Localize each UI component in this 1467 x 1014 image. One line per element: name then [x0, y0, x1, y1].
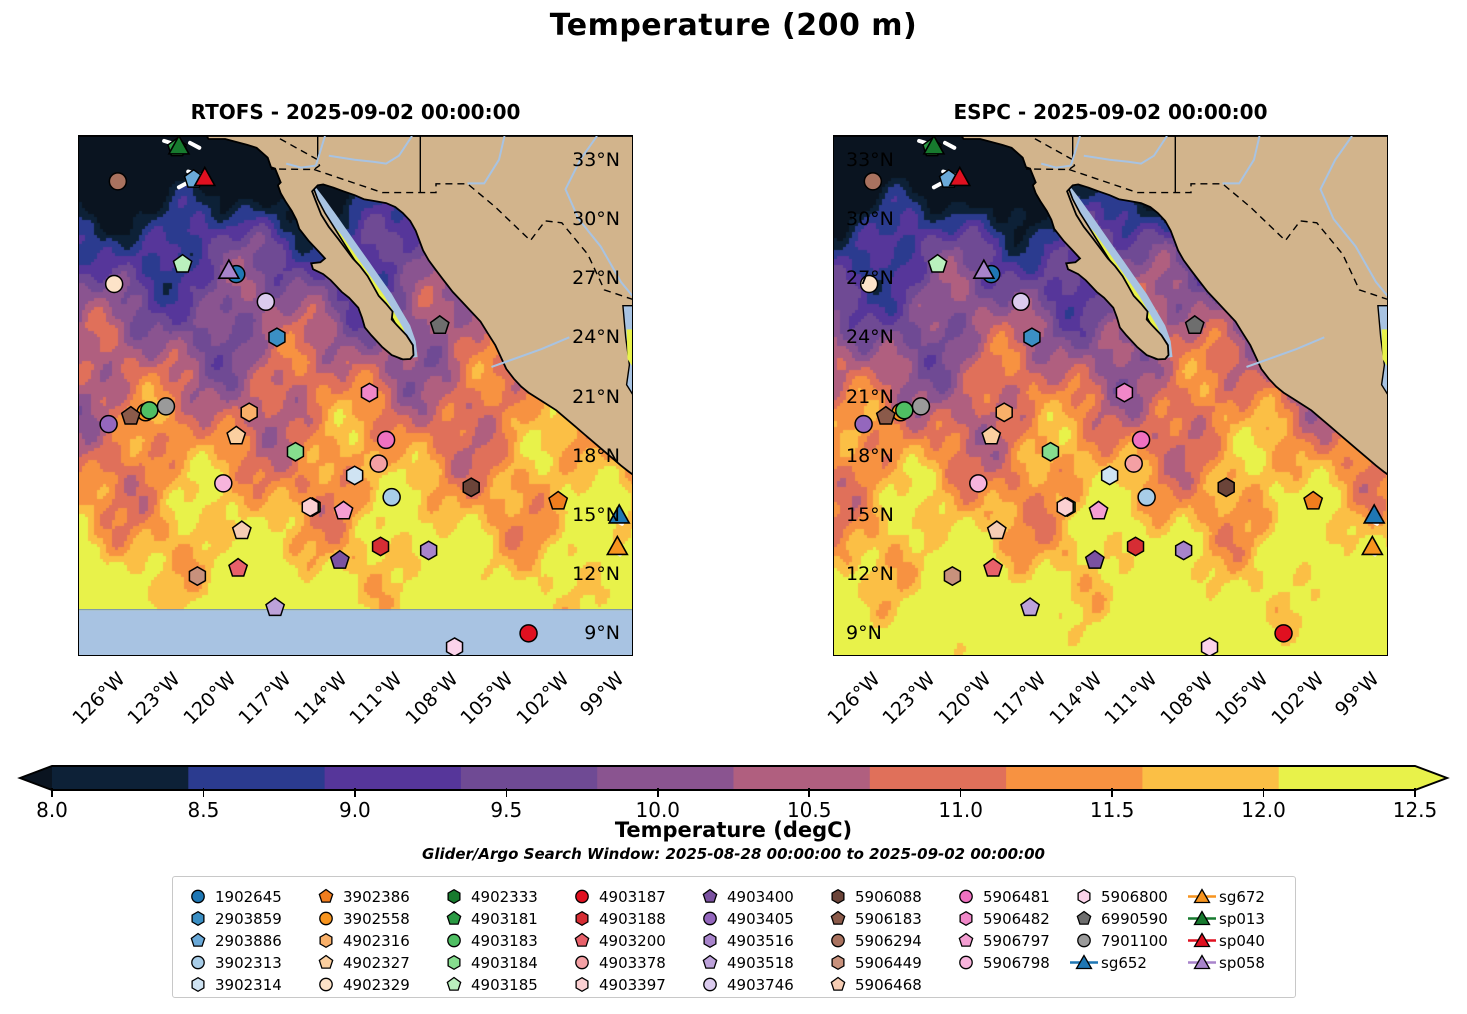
legend-item[interactable]: sg652 — [1069, 952, 1187, 973]
argo-float-marker[interactable]: 4902316 — [996, 403, 1012, 421]
search-window-note: Glider/Argo Search Window: 2025-08-28 00… — [0, 845, 1467, 863]
x-minor-tick — [624, 655, 625, 656]
argo-float-marker-icon — [183, 930, 213, 951]
glider-marker-icon — [1187, 952, 1217, 973]
legend-label: 5906481 — [981, 888, 1050, 906]
argo-float-marker[interactable]: 4903200 — [984, 559, 1002, 576]
argo-float-marker[interactable]: 2903859 — [269, 328, 285, 346]
x-minor-tick — [991, 655, 992, 656]
legend-item[interactable]: 5906482 — [951, 908, 1069, 929]
legend-label: 7901100 — [1099, 932, 1168, 950]
legend-item[interactable]: 5906294 — [823, 930, 951, 951]
y-tick — [833, 455, 834, 457]
y-tick — [833, 514, 834, 516]
argo-float-marker[interactable]: 4903185 — [173, 255, 191, 272]
legend-label: 3902314 — [213, 976, 282, 994]
y-minor-tick — [632, 554, 633, 555]
argo-float-marker[interactable]: 5906482 — [361, 383, 377, 401]
legend-item[interactable]: 4903200 — [567, 930, 695, 951]
legend-item[interactable]: sp013 — [1187, 908, 1287, 929]
x-minor-tick — [843, 655, 844, 656]
legend-item[interactable]: 5906798 — [951, 952, 1069, 973]
x-minor-tick — [898, 655, 899, 656]
y-minor-tick — [632, 139, 633, 140]
argo-float-marker-icon — [823, 930, 853, 951]
y-tick — [632, 396, 633, 398]
y-minor-tick — [833, 356, 834, 357]
x-tick-top — [1138, 135, 1140, 136]
y-minor-tick — [78, 317, 79, 318]
legend-item[interactable]: 5906797 — [951, 930, 1069, 951]
colorbar-tick — [657, 788, 659, 797]
argo-float-marker[interactable]: 5906294 — [864, 173, 881, 190]
argo-float-marker[interactable]: 4903187 — [1275, 625, 1292, 642]
argo-float-marker[interactable]: 4903397 — [1057, 498, 1073, 516]
x-minor-tick — [458, 655, 459, 656]
legend-item[interactable]: 3902314 — [183, 974, 311, 995]
y-tick — [1387, 514, 1388, 516]
argo-float-marker[interactable]: 4903200 — [229, 559, 247, 576]
argo-float-marker-icon — [183, 952, 213, 973]
argo-float-marker[interactable]: 6990590 — [431, 316, 449, 333]
legend-item[interactable]: 2903859 — [183, 908, 311, 929]
argo-float-marker[interactable]: 2903859 — [1024, 328, 1040, 346]
map-canvas-espc[interactable]: 1902645290385929038863902313390231439023… — [833, 135, 1388, 656]
y-minor-tick — [78, 435, 79, 436]
y-minor-tick — [632, 652, 633, 653]
y-minor-tick — [632, 179, 633, 180]
map-canvas-rtofs[interactable]: 1902645290385929038863902313390231439023… — [78, 135, 633, 656]
x-minor-tick — [1213, 655, 1214, 656]
y-minor-tick — [78, 198, 79, 199]
y-minor-tick — [1387, 593, 1388, 594]
argo-float-marker[interactable]: 4903516 — [421, 541, 437, 559]
x-tick — [217, 655, 219, 656]
legend-item[interactable]: 4903405 — [695, 908, 823, 929]
argo-float-marker[interactable]: 5906088 — [463, 478, 479, 496]
y-tick — [1387, 159, 1388, 161]
y-minor-tick — [632, 593, 633, 594]
y-minor-tick — [1387, 317, 1388, 318]
x-tick-top — [217, 135, 219, 136]
legend-item[interactable]: 4903185 — [439, 974, 567, 995]
argo-float-marker[interactable]: 3902313 — [383, 489, 400, 506]
panel-title-rtofs: RTOFS - 2025-09-02 00:00:00 — [78, 100, 633, 124]
legend-label: 3902386 — [341, 888, 410, 906]
argo-float-marker[interactable]: 4903400 — [1086, 551, 1104, 568]
legend-label: 4903187 — [597, 888, 666, 906]
legend-item[interactable]: 5906183 — [823, 908, 951, 929]
colorbar-tick — [51, 788, 53, 797]
y-tick — [78, 455, 79, 457]
x-tick-top — [439, 135, 441, 136]
x-minor-tick — [1157, 655, 1158, 656]
argo-float-marker[interactable]: 5906798 — [970, 475, 987, 492]
y-minor-tick — [1387, 356, 1388, 357]
glider-marker[interactable]: sg652 — [1364, 505, 1384, 523]
y-minor-tick — [833, 435, 834, 436]
x-tick-top — [106, 135, 108, 136]
y-minor-tick — [833, 534, 834, 535]
y-tick — [632, 455, 633, 457]
legend-item[interactable]: 4903188 — [567, 908, 695, 929]
y-minor-tick — [78, 613, 79, 614]
y-minor-tick — [833, 613, 834, 614]
x-tick — [1194, 655, 1196, 656]
legend-column: 59060885906183590629459064495906468 — [823, 886, 951, 991]
argo-float-marker-icon — [951, 930, 981, 951]
argo-float-marker[interactable]: 4903187 — [520, 625, 537, 642]
legend-label: 6990590 — [1099, 910, 1168, 928]
x-minor-tick — [1324, 655, 1325, 656]
y-tick — [632, 573, 633, 575]
y-minor-tick — [833, 258, 834, 259]
y-minor-tick — [1387, 297, 1388, 298]
legend-item[interactable]: 4903397 — [567, 974, 695, 995]
y-tick-label: 15°N — [846, 504, 894, 526]
legend-item[interactable]: 4903183 — [439, 930, 567, 951]
y-minor-tick — [78, 238, 79, 239]
y-minor-tick — [1387, 435, 1388, 436]
marker-legend: 1902645290385929038863902313390231439023… — [172, 876, 1296, 998]
argo-float-marker[interactable]: 5906468 — [233, 521, 251, 538]
y-tick — [833, 573, 834, 575]
argo-float-marker-icon — [695, 952, 725, 973]
argo-float-marker[interactable]: 4902327 — [982, 426, 1000, 443]
legend-column: sg672sp013sp040sp058 — [1187, 886, 1287, 991]
argo-float-marker[interactable]: 5906088 — [1218, 478, 1234, 496]
y-tick — [1387, 455, 1388, 457]
y-minor-tick — [78, 554, 79, 555]
x-minor-tick — [1065, 655, 1066, 656]
argo-float-marker[interactable]: 4902329 — [106, 276, 123, 293]
glider-marker[interactable]: sg672 — [1362, 536, 1382, 554]
y-minor-tick — [78, 475, 79, 476]
legend-label: 5906800 — [1099, 888, 1168, 906]
y-minor-tick — [833, 139, 834, 140]
argo-float-marker[interactable]: 5906449 — [944, 567, 960, 585]
y-minor-tick — [833, 376, 834, 377]
y-tick-label: 15°N — [572, 504, 620, 526]
argo-float-marker[interactable]: 3902386 — [1304, 491, 1322, 508]
legend-item[interactable]: 4903181 — [439, 908, 567, 929]
y-tick — [1387, 573, 1388, 575]
legend-label: 4902316 — [341, 932, 410, 950]
argo-float-marker[interactable]: 4903518 — [266, 598, 284, 615]
x-tick-top — [1083, 135, 1085, 136]
legend-label: 1902645 — [213, 888, 282, 906]
y-minor-tick — [78, 258, 79, 259]
argo-float-marker[interactable]: 5906482 — [1116, 383, 1132, 401]
legend-item[interactable]: 7901100 — [1069, 930, 1187, 951]
y-minor-tick — [833, 593, 834, 594]
glider-marker-icon — [1187, 908, 1217, 929]
x-minor-tick — [88, 655, 89, 656]
y-minor-tick — [833, 198, 834, 199]
x-tick-top — [383, 135, 385, 136]
legend-label: 4903184 — [469, 954, 538, 972]
legend-label: 4903378 — [597, 954, 666, 972]
y-tick-label: 9°N — [846, 622, 882, 644]
x-tick-top — [861, 135, 863, 136]
x-tick-top — [1027, 135, 1029, 136]
argo-float-marker-icon — [183, 886, 213, 907]
x-minor-tick — [1046, 655, 1047, 656]
argo-float-marker-icon — [1069, 930, 1099, 951]
y-tick-label: 33°N — [846, 149, 894, 171]
argo-float-marker[interactable]: 4903397 — [302, 498, 318, 516]
legend-item[interactable]: 3902558 — [311, 908, 439, 929]
y-tick-label: 9°N — [584, 622, 620, 644]
legend-column: 39023863902558490231649023274902329 — [311, 886, 439, 991]
legend-item[interactable]: sp040 — [1187, 930, 1287, 951]
legend-item[interactable]: 4903378 — [567, 952, 695, 973]
y-tick — [78, 336, 79, 338]
argo-float-marker-icon — [439, 908, 469, 929]
y-minor-tick — [632, 317, 633, 318]
argo-float-marker[interactable]: 4903518 — [1021, 598, 1039, 615]
legend-label: 2903886 — [213, 932, 282, 950]
legend-label: 4903181 — [469, 910, 538, 928]
legend-item[interactable]: 4903184 — [439, 952, 567, 973]
colorbar-gradient — [0, 762, 1467, 798]
legend-item[interactable]: 6990590 — [1069, 908, 1187, 929]
argo-float-marker-icon — [823, 908, 853, 929]
argo-float-marker[interactable]: 5906797 — [1089, 501, 1107, 518]
y-tick — [78, 573, 79, 575]
argo-float-marker[interactable]: 4903378 — [370, 455, 387, 472]
argo-float-marker[interactable]: 5906798 — [215, 475, 232, 492]
x-tick-top — [328, 135, 330, 136]
argo-float-marker[interactable]: 4903400 — [331, 551, 349, 568]
argo-float-marker[interactable]: 4903188 — [1128, 537, 1144, 555]
legend-column: 49023334903181490318349031844903185 — [439, 886, 567, 991]
legend-item[interactable]: 4903746 — [695, 974, 823, 995]
argo-float-marker[interactable]: 3902314 — [1102, 466, 1118, 484]
argo-float-marker[interactable]: 4903405 — [100, 416, 117, 433]
y-tick — [78, 514, 79, 516]
colorbar-tick — [808, 788, 810, 797]
argo-float-marker-icon — [567, 908, 597, 929]
x-tick — [1027, 655, 1029, 656]
legend-item[interactable]: 4903400 — [695, 886, 823, 907]
x-minor-tick — [935, 655, 936, 656]
y-minor-tick — [78, 139, 79, 140]
y-minor-tick — [632, 198, 633, 199]
argo-float-marker-icon — [695, 974, 725, 995]
argo-float-marker[interactable]: 3902313 — [1138, 489, 1155, 506]
x-tick — [161, 655, 163, 656]
x-tick — [494, 655, 496, 656]
legend-item[interactable]: 5906468 — [823, 974, 951, 995]
y-tick — [632, 633, 633, 635]
argo-float-marker[interactable]: 4903184 — [1042, 443, 1058, 461]
x-tick — [439, 655, 441, 656]
argo-float-marker[interactable]: 5906481 — [378, 431, 395, 448]
y-minor-tick — [1387, 613, 1388, 614]
y-minor-tick — [78, 376, 79, 377]
colorbar-segment — [597, 766, 734, 790]
legend-column: 49031874903188490320049033784903397 — [567, 886, 695, 991]
legend-label: 4903405 — [725, 910, 794, 928]
argo-float-marker[interactable]: 4903185 — [928, 255, 946, 272]
argo-float-marker-icon — [1069, 886, 1099, 907]
y-minor-tick — [632, 238, 633, 239]
x-minor-tick — [1379, 655, 1380, 656]
argo-float-marker-icon — [951, 952, 981, 973]
colorbar-segment — [1279, 766, 1416, 790]
legend-item[interactable]: 5906088 — [823, 886, 951, 907]
legend-label: 3902558 — [341, 910, 410, 928]
y-minor-tick — [833, 494, 834, 495]
glider-marker-icon — [1187, 930, 1217, 951]
y-minor-tick — [833, 416, 834, 417]
legend-item[interactable]: 4902327 — [311, 952, 439, 973]
argo-float-marker[interactable]: 7901100 — [157, 398, 174, 415]
y-minor-tick — [632, 475, 633, 476]
x-minor-tick — [476, 655, 477, 656]
y-tick — [632, 218, 633, 220]
legend-item[interactable]: 3902386 — [311, 886, 439, 907]
legend-label: 4903397 — [597, 976, 666, 994]
argo-float-marker[interactable]: 4902327 — [227, 426, 245, 443]
legend-label: 4903746 — [725, 976, 794, 994]
map-overlay-rtofs: 1902645290385929038863902313390231439023… — [79, 136, 633, 656]
legend-item[interactable]: 2903886 — [183, 930, 311, 951]
legend-label: 5906468 — [853, 976, 922, 994]
x-tick — [328, 655, 330, 656]
argo-float-marker-icon — [311, 952, 341, 973]
argo-float-marker-icon — [183, 974, 213, 995]
legend-item[interactable]: 1902645 — [183, 886, 311, 907]
x-minor-tick — [513, 655, 514, 656]
argo-float-marker-icon — [439, 930, 469, 951]
argo-float-marker[interactable]: 4903183 — [896, 402, 913, 419]
y-minor-tick — [78, 416, 79, 417]
y-minor-tick — [78, 179, 79, 180]
x-minor-tick — [143, 655, 144, 656]
argo-float-marker-icon — [311, 974, 341, 995]
legend-label: sp058 — [1217, 954, 1265, 972]
legend-label: 4902329 — [341, 976, 410, 994]
x-minor-tick — [199, 655, 200, 656]
argo-float-marker[interactable]: 5906481 — [1133, 431, 1150, 448]
legend-item[interactable]: 4902316 — [311, 930, 439, 951]
y-minor-tick — [1387, 376, 1388, 377]
legend-item[interactable]: 3902313 — [183, 952, 311, 973]
x-minor-tick — [365, 655, 366, 656]
y-tick — [833, 336, 834, 338]
glider-track — [945, 143, 954, 148]
x-minor-tick — [254, 655, 255, 656]
x-minor-tick — [347, 655, 348, 656]
x-minor-tick — [1009, 655, 1010, 656]
legend-item[interactable]: 4903187 — [567, 886, 695, 907]
y-tick-label: 27°N — [572, 267, 620, 289]
legend-item[interactable]: 5906449 — [823, 952, 951, 973]
argo-float-marker-icon — [695, 908, 725, 929]
x-tick-top — [272, 135, 274, 136]
y-minor-tick — [833, 317, 834, 318]
argo-float-marker[interactable]: 4903746 — [1012, 293, 1029, 310]
argo-float-marker-icon — [567, 886, 597, 907]
argo-float-marker[interactable]: 4903188 — [373, 537, 389, 555]
argo-float-marker[interactable]: 4902316 — [241, 403, 257, 421]
y-tick — [632, 159, 633, 161]
map-overlay-espc: 1902645290385929038863902313390231439023… — [834, 136, 1388, 656]
glider-marker[interactable]: sg672 — [607, 536, 627, 554]
legend-item[interactable]: 4902333 — [439, 886, 567, 907]
x-minor-tick — [291, 655, 292, 656]
glider-marker-icon — [1069, 952, 1099, 973]
legend-label: 4903518 — [725, 954, 794, 972]
x-tick — [916, 655, 918, 656]
legend-item[interactable]: 5906800 — [1069, 886, 1187, 907]
legend-label: 5906482 — [981, 910, 1050, 928]
legend-item[interactable]: 4903516 — [695, 930, 823, 951]
legend-label: 5906183 — [853, 910, 922, 928]
y-minor-tick — [78, 297, 79, 298]
argo-float-marker[interactable]: 5906449 — [189, 567, 205, 585]
argo-float-marker[interactable]: 7901100 — [912, 398, 929, 415]
argo-float-marker[interactable]: 4903516 — [1176, 541, 1192, 559]
y-tick — [78, 277, 79, 279]
x-tick — [972, 655, 974, 656]
x-tick — [861, 655, 863, 656]
x-tick — [272, 655, 274, 656]
argo-float-marker[interactable]: 4903183 — [141, 402, 158, 419]
argo-float-marker[interactable]: 4903746 — [257, 293, 274, 310]
legend-item[interactable]: 5906481 — [951, 886, 1069, 907]
argo-float-marker[interactable]: 3902386 — [549, 491, 567, 508]
argo-float-marker[interactable]: 5906800 — [1202, 638, 1218, 656]
legend-column: 49034004903405490351649035184903746 — [695, 886, 823, 991]
y-tick-label: 12°N — [846, 563, 894, 585]
x-minor-tick — [421, 655, 422, 656]
argo-float-marker[interactable]: 5906294 — [109, 173, 126, 190]
argo-float-marker[interactable]: 6990590 — [1186, 316, 1204, 333]
legend-item[interactable]: sg672 — [1187, 886, 1287, 907]
x-tick-top — [1360, 135, 1362, 136]
argo-float-marker[interactable]: 5906800 — [447, 638, 463, 656]
argo-float-marker[interactable]: 4903184 — [287, 443, 303, 461]
argo-float-marker[interactable]: 3902314 — [347, 466, 363, 484]
legend-item[interactable]: 4903518 — [695, 952, 823, 973]
argo-float-marker-icon — [695, 930, 725, 951]
argo-float-marker-icon — [567, 930, 597, 951]
argo-float-marker[interactable]: 4903378 — [1125, 455, 1142, 472]
y-minor-tick — [632, 435, 633, 436]
argo-float-marker-icon — [823, 974, 853, 995]
legend-item[interactable]: sp058 — [1187, 952, 1287, 973]
argo-float-marker-icon — [695, 886, 725, 907]
legend-item[interactable]: 4902329 — [311, 974, 439, 995]
argo-float-marker[interactable]: 4903405 — [855, 416, 872, 433]
x-tick — [605, 655, 607, 656]
y-minor-tick — [1387, 534, 1388, 535]
map-panel-rtofs: RTOFS - 2025-09-02 00:00:001902645290385… — [78, 135, 633, 656]
legend-label: 4902327 — [341, 954, 410, 972]
legend-label: sg652 — [1099, 954, 1147, 972]
x-minor-tick — [1231, 655, 1232, 656]
colorbar-title: Temperature (degC) — [0, 818, 1467, 842]
legend-label: 5906797 — [981, 932, 1050, 950]
y-minor-tick — [833, 297, 834, 298]
legend-column: 590680069905907901100sg652 — [1069, 886, 1187, 991]
argo-float-marker[interactable]: 5906797 — [334, 501, 352, 518]
legend-label: 4903200 — [597, 932, 666, 950]
argo-float-marker[interactable]: 5906468 — [988, 521, 1006, 538]
